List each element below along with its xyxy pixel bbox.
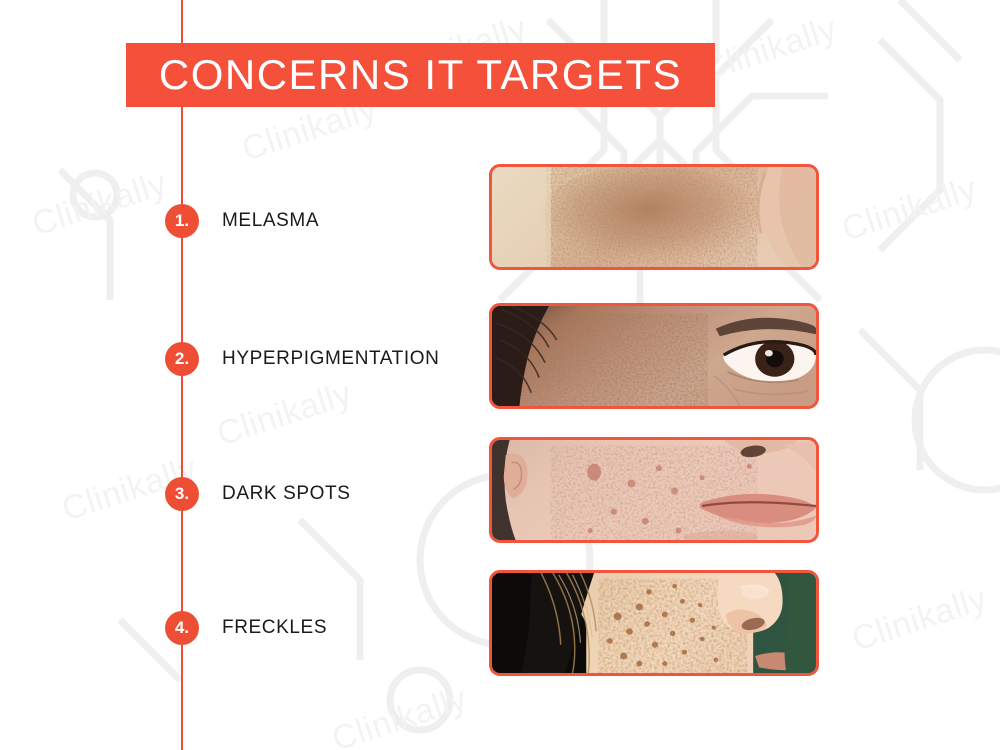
photo-image-freckles bbox=[492, 573, 816, 673]
photo-image-melasma bbox=[492, 167, 816, 267]
photo-card-melasma[interactable] bbox=[489, 164, 819, 270]
photo-card-freckles[interactable] bbox=[489, 570, 819, 676]
photo-card-list bbox=[0, 0, 1000, 750]
photo-card-hyperpigmentation[interactable] bbox=[489, 303, 819, 409]
photo-image-dark-spots bbox=[492, 440, 816, 540]
slide-canvas: Clinikally Clinikally Clinikally Clinika… bbox=[0, 0, 1000, 750]
photo-image-hyperpigmentation bbox=[492, 306, 816, 406]
photo-card-dark-spots[interactable] bbox=[489, 437, 819, 543]
